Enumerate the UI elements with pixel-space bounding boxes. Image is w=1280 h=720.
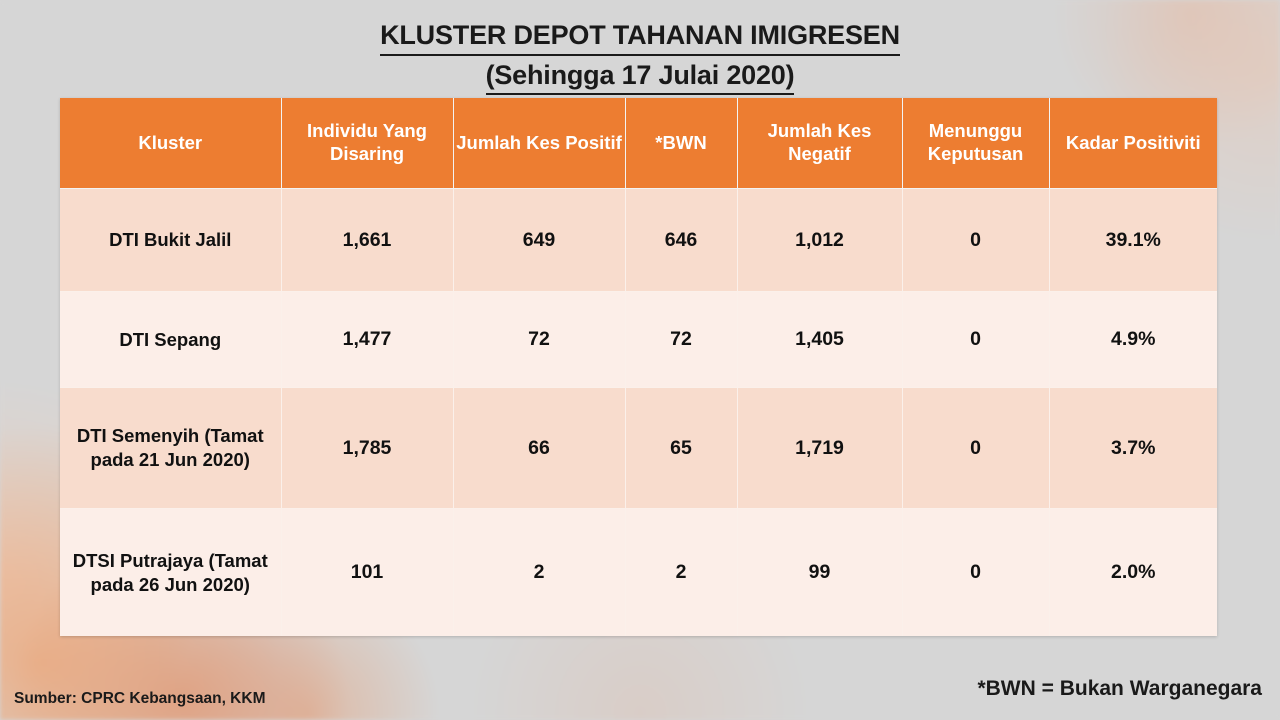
cell-bwn: 2 <box>625 509 737 637</box>
cluster-table: Kluster Individu Yang Disaring Jumlah Ke… <box>60 98 1217 636</box>
column-header-bwn: *BWN <box>625 98 737 189</box>
column-header-menunggu-keputusan: Menunggu Keputusan <box>902 98 1049 189</box>
cell-menunggu-keputusan: 0 <box>902 189 1049 292</box>
source-note: Sumber: CPRC Kebangsaan, KKM <box>14 690 265 708</box>
cell-kluster: DTI Semenyih (Tamat pada 21 Jun 2020) <box>60 388 281 509</box>
cell-individu-disaring: 1,477 <box>281 292 453 388</box>
column-header-individu-disaring: Individu Yang Disaring <box>281 98 453 189</box>
page-title: KLUSTER DEPOT TAHANAN IMIGRESEN (Sehingg… <box>0 18 1280 95</box>
cell-kluster: DTI Bukit Jalil <box>60 189 281 292</box>
cell-kes-negatif: 99 <box>737 509 902 637</box>
cell-kes-positif: 72 <box>453 292 625 388</box>
cell-menunggu-keputusan: 0 <box>902 292 1049 388</box>
cell-kluster: DTSI Putrajaya (Tamat pada 26 Jun 2020) <box>60 509 281 637</box>
cell-kes-positif: 2 <box>453 509 625 637</box>
table-row: DTSI Putrajaya (Tamat pada 26 Jun 2020) … <box>60 509 1217 637</box>
cell-kes-negatif: 1,719 <box>737 388 902 509</box>
cell-individu-disaring: 1,661 <box>281 189 453 292</box>
table-row: DTI Bukit Jalil 1,661 649 646 1,012 0 39… <box>60 189 1217 292</box>
table-header-row: Kluster Individu Yang Disaring Jumlah Ke… <box>60 98 1217 189</box>
cell-individu-disaring: 101 <box>281 509 453 637</box>
column-header-jumlah-kes-negatif: Jumlah Kes Negatif <box>737 98 902 189</box>
cell-kadar-positiviti: 39.1% <box>1049 189 1217 292</box>
cell-kadar-positiviti: 3.7% <box>1049 388 1217 509</box>
column-header-jumlah-kes-positif: Jumlah Kes Positif <box>453 98 625 189</box>
cell-menunggu-keputusan: 0 <box>902 509 1049 637</box>
cell-kes-negatif: 1,405 <box>737 292 902 388</box>
page-title-line-1: KLUSTER DEPOT TAHANAN IMIGRESEN <box>380 18 900 56</box>
cell-kes-positif: 649 <box>453 189 625 292</box>
cell-kadar-positiviti: 2.0% <box>1049 509 1217 637</box>
cell-bwn: 72 <box>625 292 737 388</box>
cell-bwn: 65 <box>625 388 737 509</box>
table-row: DTI Sepang 1,477 72 72 1,405 0 4.9% <box>60 292 1217 388</box>
column-header-kluster: Kluster <box>60 98 281 189</box>
column-header-kadar-positiviti: Kadar Positiviti <box>1049 98 1217 189</box>
cell-kadar-positiviti: 4.9% <box>1049 292 1217 388</box>
cell-kes-negatif: 1,012 <box>737 189 902 292</box>
table-header: Kluster Individu Yang Disaring Jumlah Ke… <box>60 98 1217 189</box>
cell-bwn: 646 <box>625 189 737 292</box>
cell-individu-disaring: 1,785 <box>281 388 453 509</box>
table-row: DTI Semenyih (Tamat pada 21 Jun 2020) 1,… <box>60 388 1217 509</box>
page-title-line-2: (Sehingga 17 Julai 2020) <box>486 58 795 96</box>
slide-canvas: KLUSTER DEPOT TAHANAN IMIGRESEN (Sehingg… <box>0 0 1280 720</box>
cell-kes-positif: 66 <box>453 388 625 509</box>
cell-kluster: DTI Sepang <box>60 292 281 388</box>
table-body: DTI Bukit Jalil 1,661 649 646 1,012 0 39… <box>60 189 1217 637</box>
bwn-legend-note: *BWN = Bukan Warganegara <box>977 677 1262 701</box>
cell-menunggu-keputusan: 0 <box>902 388 1049 509</box>
